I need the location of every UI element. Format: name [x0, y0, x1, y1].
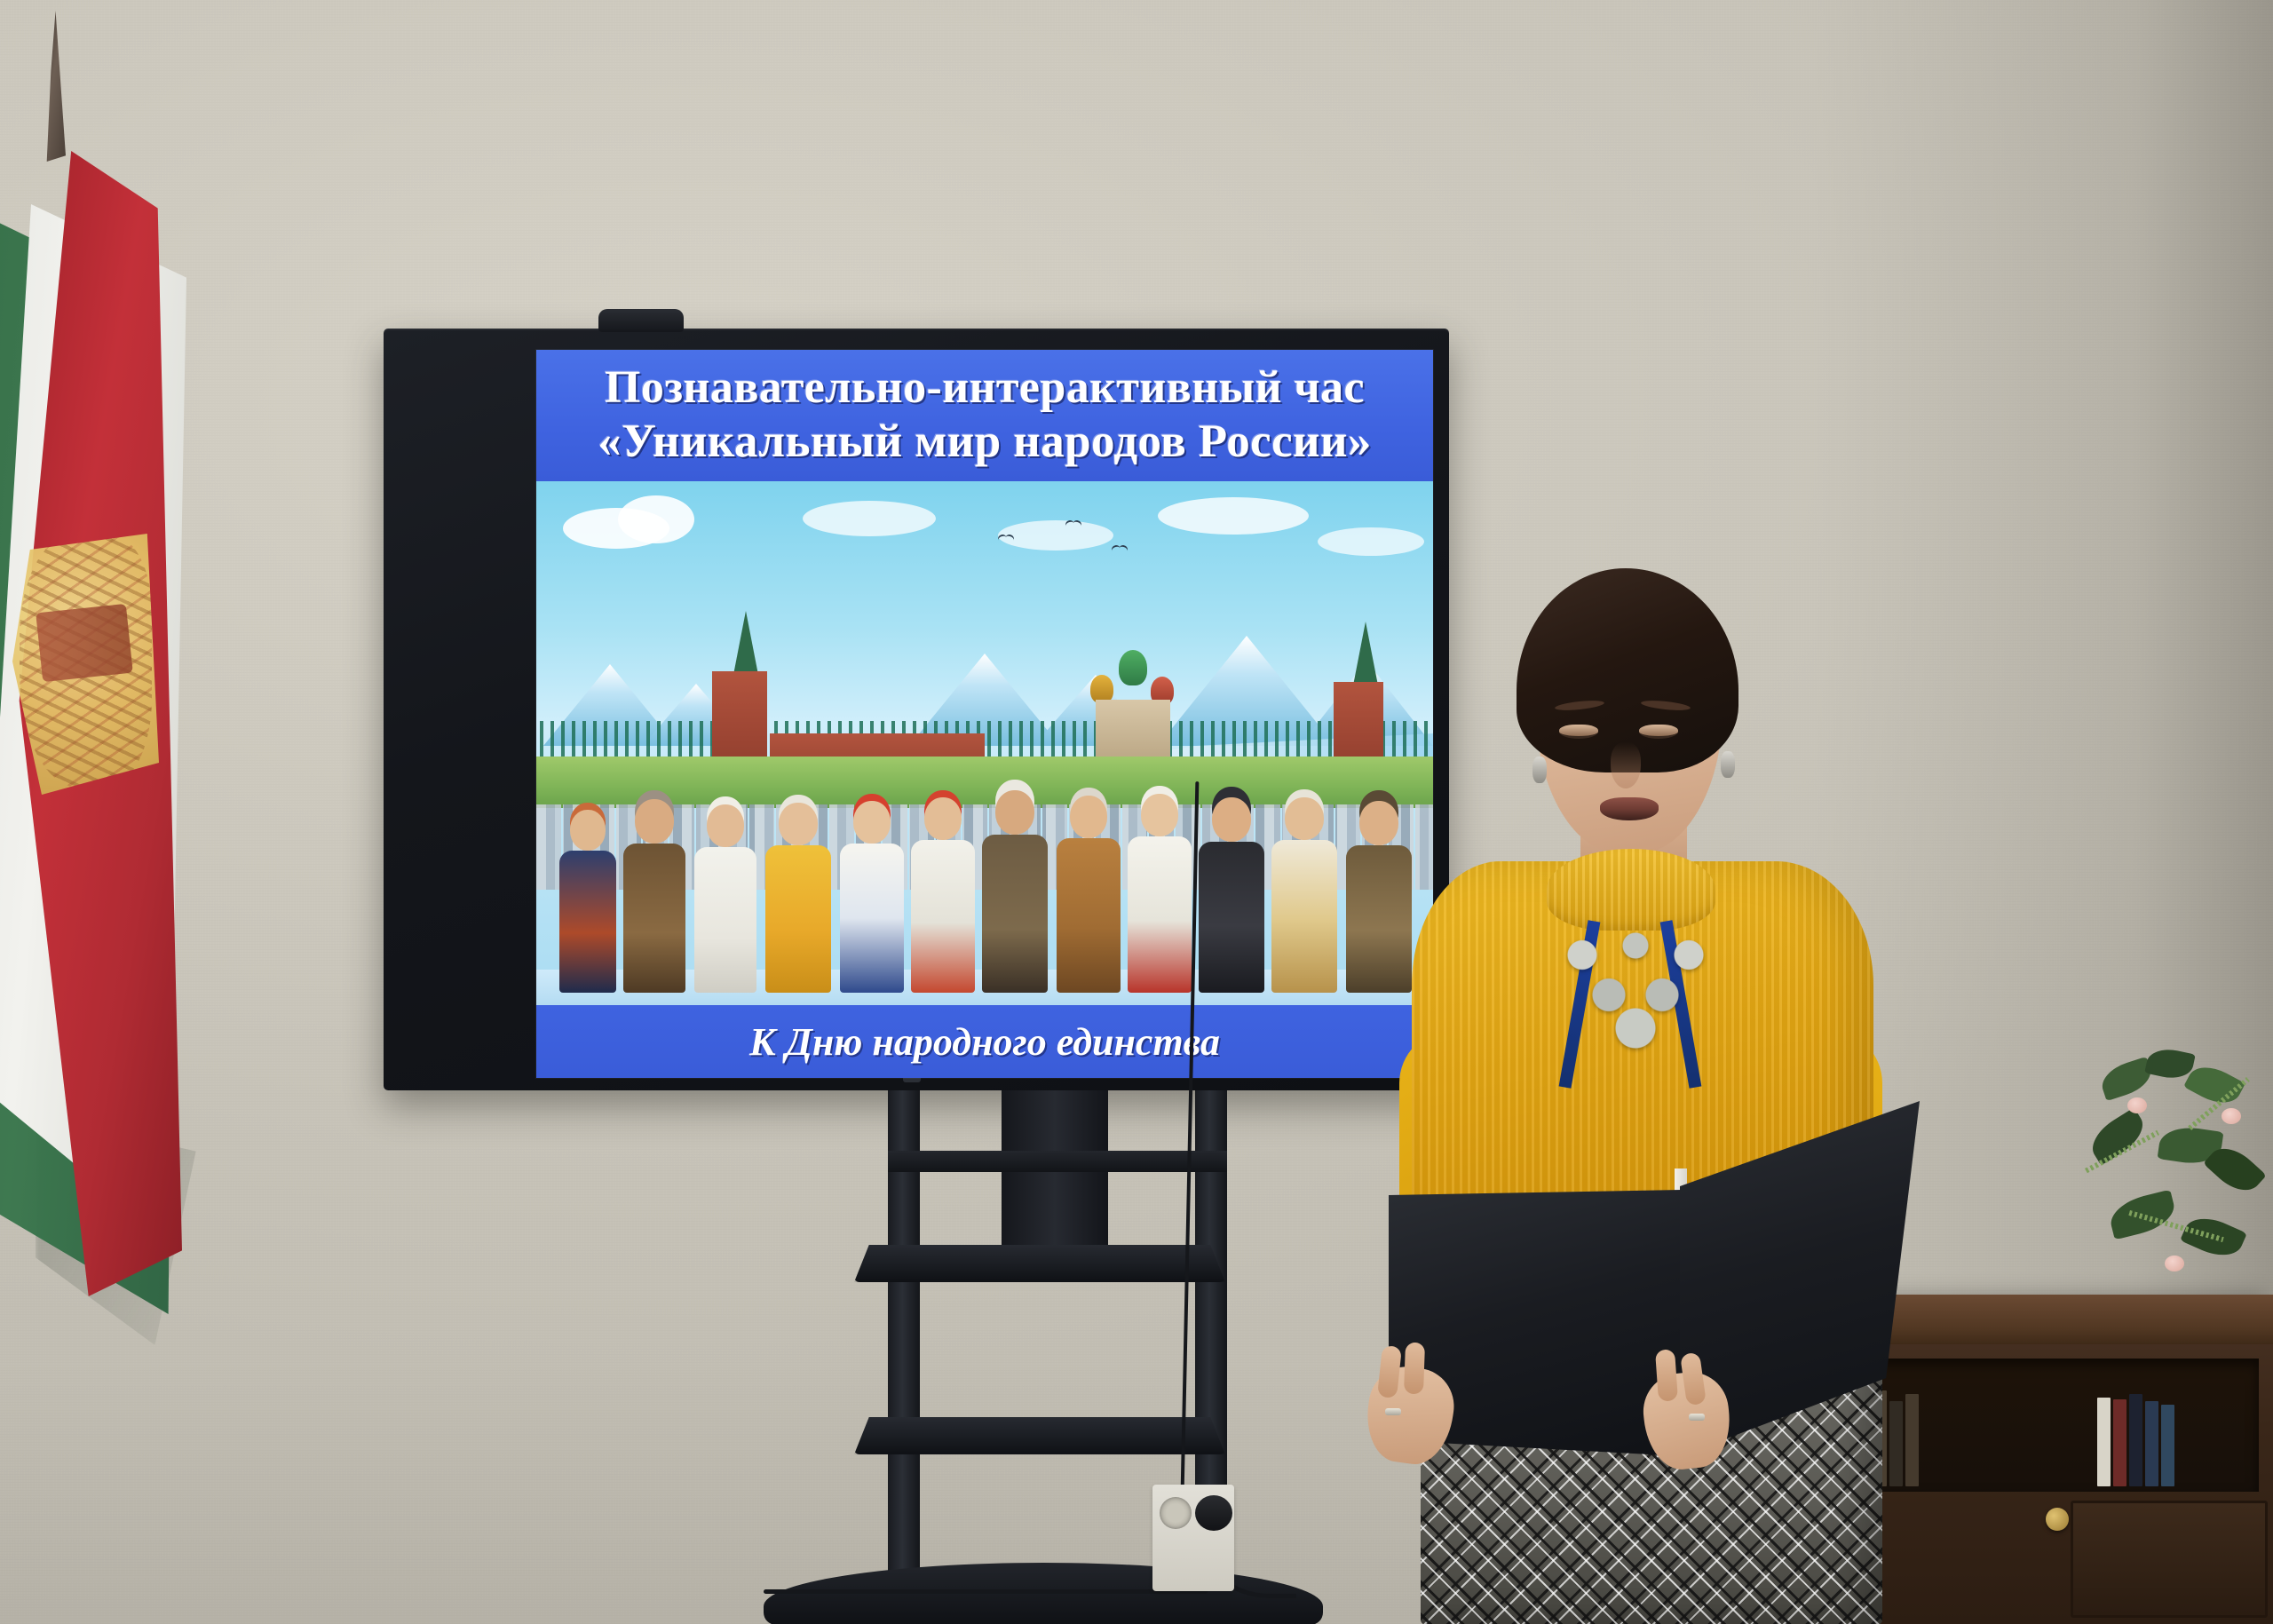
ring-icon: [1385, 1408, 1401, 1415]
cabinet-knob-icon[interactable]: [2046, 1508, 2069, 1531]
mouth: [1600, 797, 1659, 820]
finger: [1655, 1349, 1678, 1401]
decorative-plant: [2074, 1046, 2273, 1312]
speaker: [1358, 568, 1909, 1624]
finger: [1404, 1343, 1425, 1395]
book-spine: [2129, 1394, 2142, 1486]
book-spine: [2145, 1401, 2158, 1486]
ring-icon: [1689, 1414, 1705, 1421]
slide-footer: К Дню народного единства: [536, 1005, 1433, 1078]
stand-shelf-upper: [854, 1245, 1225, 1282]
slide-header: Познавательно-интерактивный час «Уникаль…: [536, 350, 1433, 481]
flag-finial-icon: [43, 11, 66, 162]
slide-subtitle: «Уникальный мир народов России»: [598, 416, 1372, 467]
presentation-slide: Познавательно-интерактивный час «Уникаль…: [536, 350, 1433, 1078]
earring-left-icon: [1532, 757, 1547, 783]
power-cable-floor: [764, 1589, 1208, 1594]
socket-hole-icon: [1160, 1497, 1192, 1529]
turtleneck-collar: [1547, 849, 1715, 931]
slide-caption: К Дню народного единства: [749, 1019, 1220, 1065]
statement-necklace: [1547, 922, 1724, 1055]
stand-crossbar: [888, 1151, 1227, 1172]
book-spine: [2161, 1405, 2174, 1486]
eye-left: [1559, 725, 1598, 739]
camera-icon: [598, 309, 684, 332]
flag-emblem-icon: [12, 528, 159, 795]
room-scene: Познавательно-интерактивный час «Уникаль…: [0, 0, 2273, 1624]
standing-flag: [0, 0, 231, 1332]
wall-tv[interactable]: Познавательно-интерактивный час «Уникаль…: [384, 329, 1449, 1090]
earring-right-icon: [1721, 751, 1735, 778]
slide-title: Познавательно-интерактивный час: [605, 363, 1365, 413]
nose: [1611, 742, 1641, 788]
power-plug-icon: [1195, 1495, 1232, 1531]
book-spine: [2113, 1399, 2126, 1486]
stand-shelf-lower: [854, 1417, 1225, 1454]
crowd-illustration: [536, 739, 1433, 1005]
wall-socket[interactable]: [1152, 1485, 1234, 1591]
eye-right: [1639, 725, 1678, 739]
slide-artwork: [536, 481, 1433, 1005]
book-spine: [2097, 1398, 2111, 1486]
cabinet-door[interactable]: [2071, 1501, 2268, 1618]
